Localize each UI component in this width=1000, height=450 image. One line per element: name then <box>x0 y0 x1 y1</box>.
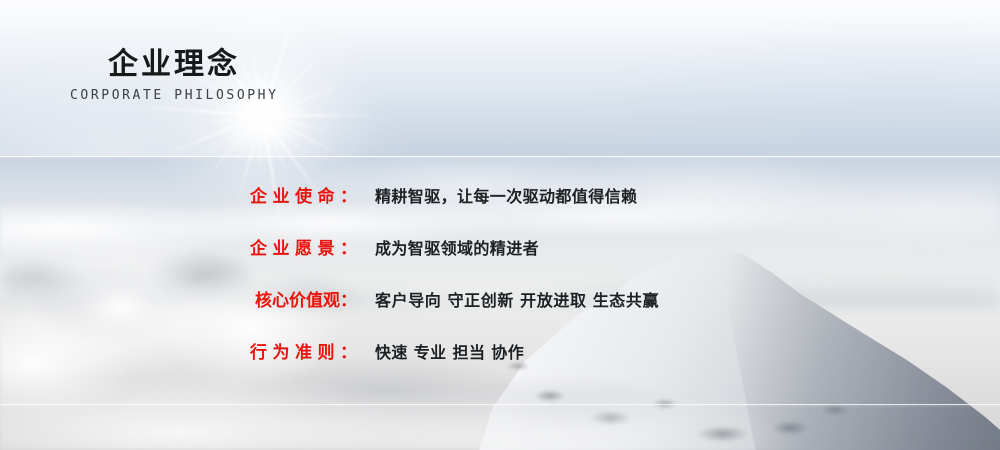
philosophy-label-colon: ： <box>340 187 357 207</box>
philosophy-row-value: 客户导向 守正创新 开放进取 生态共赢 <box>357 287 659 311</box>
philosophy-row-value: 成为智驱领域的精进者 <box>357 235 539 259</box>
corporate-philosophy-banner: 企业理念 CORPORATE PHILOSOPHY 企业使命：精耕智驱，让每一次… <box>0 0 1000 450</box>
page-title: 企业理念 <box>108 46 279 84</box>
philosophy-row-label: 行为准则： <box>0 338 357 363</box>
philosophy-row-label: 核心价值观： <box>0 286 357 311</box>
philosophy-row-label: 企业使命： <box>0 182 357 207</box>
philosophy-label-text: 企业愿景 <box>250 239 340 259</box>
philosophy-label-colon: ： <box>340 291 357 311</box>
philosophy-label-text: 核心价值观 <box>255 291 340 311</box>
philosophy-row: 企业使命：精耕智驱，让每一次驱动都值得信赖 <box>0 182 1000 234</box>
philosophy-row-label: 企业愿景： <box>0 234 357 259</box>
philosophy-row-value: 精耕智驱，让每一次驱动都值得信赖 <box>357 183 637 207</box>
philosophy-label-colon: ： <box>340 343 357 363</box>
philosophy-row: 核心价值观：客户导向 守正创新 开放进取 生态共赢 <box>0 286 1000 338</box>
philosophy-row: 行为准则：快速 专业 担当 协作 <box>0 338 1000 390</box>
divider-bottom <box>0 404 1000 405</box>
header-block: 企业理念 CORPORATE PHILOSOPHY <box>70 46 279 106</box>
page-subtitle: CORPORATE PHILOSOPHY <box>70 86 279 106</box>
philosophy-label-colon: ： <box>340 239 357 259</box>
philosophy-row-value: 快速 专业 担当 协作 <box>357 339 524 363</box>
philosophy-row: 企业愿景：成为智驱领域的精进者 <box>0 234 1000 286</box>
philosophy-list: 企业使命：精耕智驱，让每一次驱动都值得信赖企业愿景：成为智驱领域的精进者核心价值… <box>0 182 1000 390</box>
philosophy-label-text: 行为准则 <box>250 343 340 363</box>
philosophy-label-text: 企业使命 <box>250 187 340 207</box>
divider-top <box>0 156 1000 157</box>
